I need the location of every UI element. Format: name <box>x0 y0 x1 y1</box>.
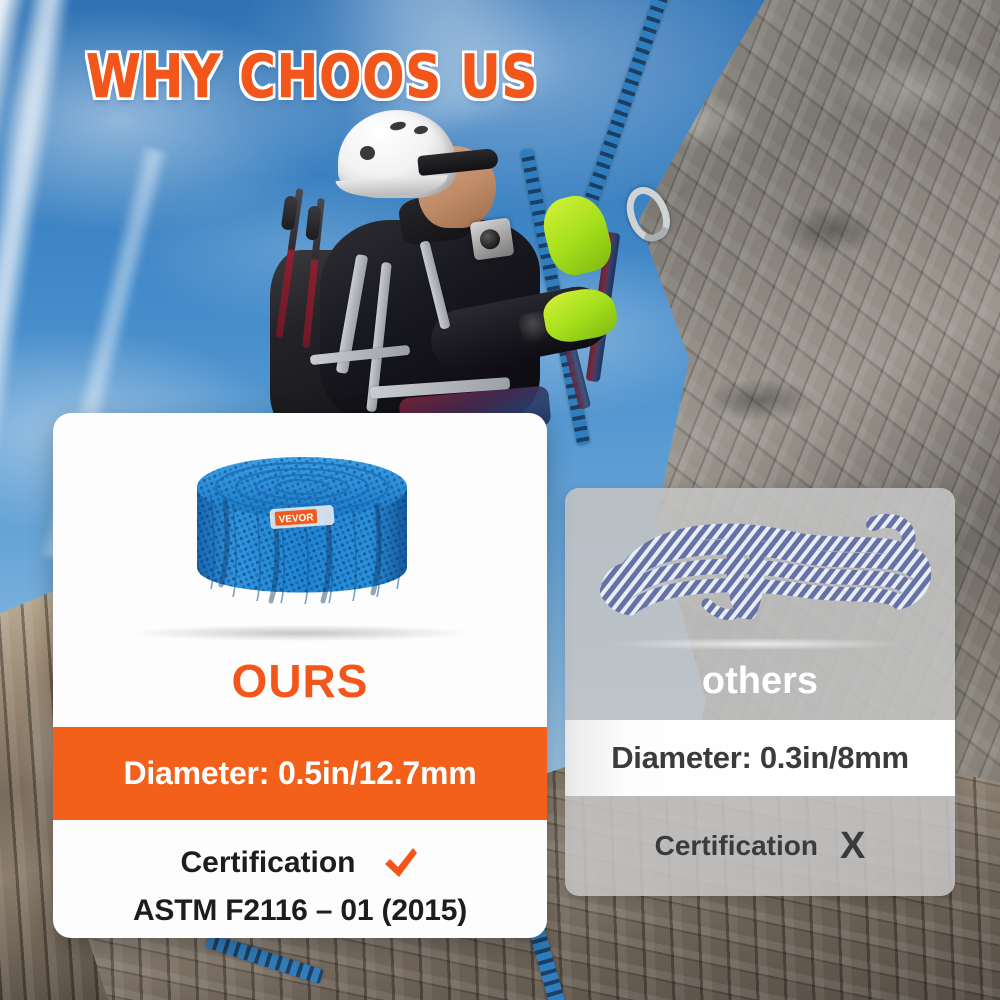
ours-rope-image: VEVOR <box>171 431 433 623</box>
others-rope-image <box>587 508 933 634</box>
comparison-card-ours: VEVOR OURS Diameter: 0.5in/12.7mm Certif… <box>53 413 547 938</box>
ours-certification-label: Certification <box>180 846 355 880</box>
ours-diameter-band: Diameter: 0.5in/12.7mm <box>53 727 547 820</box>
comparison-card-others: others Diameter: 0.3in/8mm Certification… <box>565 488 955 896</box>
others-certification-label: Certification <box>655 830 818 862</box>
cross-mark-icon: X <box>840 827 865 865</box>
others-diameter-text: Diameter: 0.3in/8mm <box>611 740 909 776</box>
page-title: WHY CHOOS US <box>86 42 538 112</box>
others-diameter-band: Diameter: 0.3in/8mm <box>565 720 955 796</box>
helmet-vent <box>360 146 375 160</box>
others-heading: others <box>565 656 955 720</box>
check-icon <box>382 846 420 880</box>
ours-certification-standard: ASTM F2116 – 01 (2015) <box>53 888 547 928</box>
climber-photo <box>250 100 610 430</box>
climbing-glove <box>537 190 616 281</box>
ours-certification-row: Certification <box>53 838 547 888</box>
ours-certification-block: Certification ASTM F2116 – 01 (2015) <box>53 820 547 928</box>
action-camera <box>470 217 515 260</box>
ours-diameter-text: Diameter: 0.5in/12.7mm <box>123 755 476 792</box>
ours-rope-shadow <box>133 625 469 641</box>
product-comparison-image: WHY CHOOS US <box>0 0 1000 1000</box>
ours-image-zone: VEVOR <box>53 413 547 648</box>
others-certification-row: Certification X <box>565 796 955 896</box>
others-image-zone <box>565 488 955 656</box>
others-rope-shadow <box>613 638 903 650</box>
ours-heading: OURS <box>53 648 547 727</box>
